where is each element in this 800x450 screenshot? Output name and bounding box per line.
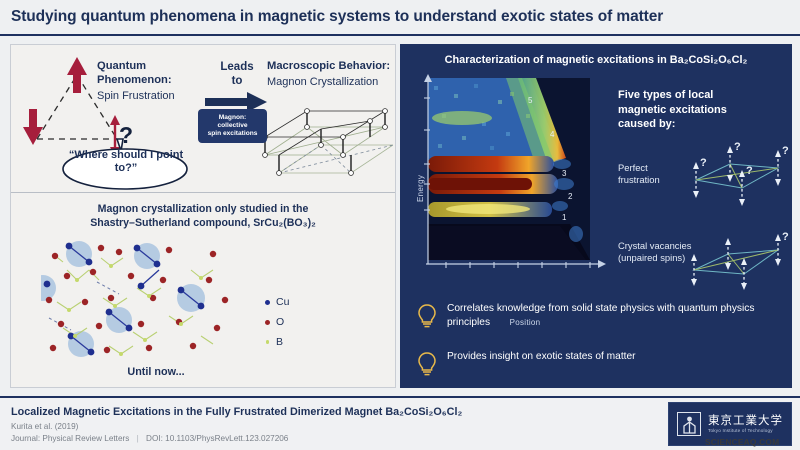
magnon-line2: collective	[217, 122, 247, 130]
crystal-legend: Cu O B	[265, 296, 289, 356]
shastry-caption: Magnon crystallization only studied in t…	[25, 202, 381, 231]
paper-authors: Kurita et al. (2019)	[11, 422, 78, 431]
legend-item-cu: Cu	[265, 296, 289, 308]
lightbulb-icon	[416, 303, 438, 329]
spin-up-arrow	[67, 57, 87, 93]
until-now-text: Until now...	[11, 366, 301, 378]
macroscopic-heading: Macroscopic Behavior:	[267, 59, 393, 74]
heatmap-ylabel: Energy	[416, 175, 425, 202]
magnon-line3: spin excitations	[208, 130, 258, 138]
journal-separator: |	[137, 434, 139, 443]
bullet-item-2: Provides insight on exotic states of mat…	[416, 350, 776, 377]
quantum-phenomenon-sub: Spin Frustration	[97, 89, 201, 103]
crystal-lattice-svg	[41, 236, 241, 364]
bullet-text-2: Provides insight on exotic states of mat…	[447, 350, 636, 364]
perfect-frustration-lattice: ?? ??	[686, 140, 792, 214]
heatmap-marker-2: 2	[568, 192, 572, 201]
legend-dot-cu	[265, 300, 270, 305]
speech-bubble-text: “Where should I point to?”	[67, 149, 185, 175]
macroscopic-behavior-label: Macroscopic Behavior: Magnon Crystalliza…	[267, 59, 393, 89]
heatmap-marker-5: 5	[528, 96, 532, 105]
logo-name-jp: 東京工業大学	[708, 415, 783, 428]
quantum-phenomenon-label: Quantum Phenomenon: Spin Frustration	[97, 59, 201, 103]
magnon-lattice-diagram	[259, 97, 393, 189]
crystal-vacancies-lattice: ?	[686, 230, 792, 302]
phenomenon-panel: ? “Where should I point to?” Quantum Phe…	[11, 45, 395, 193]
magnon-definition-box: Magnon: collective spin excitations	[198, 109, 267, 143]
heatmap-marker-3: 3	[562, 169, 566, 178]
svg-text:?: ?	[700, 157, 707, 169]
watermark-text: SCIENCEAQ.COM	[705, 437, 779, 447]
logo-text-block: 東京工業大学 Tokyo Institute of Technology	[708, 415, 783, 434]
legend-label-b: B	[276, 336, 283, 348]
heatmap-marker-4: 4	[550, 130, 554, 139]
lightbulb-icon	[416, 351, 438, 377]
paper-title: Localized Magnetic Excitations in the Fu…	[11, 406, 462, 418]
bullet-text-1: Correlates knowledge from solid state ph…	[447, 302, 776, 330]
perfect-frustration-label: Perfect frustration	[618, 162, 684, 186]
legend-item-b: B	[265, 336, 289, 348]
leads-to-line1: Leads	[201, 61, 273, 75]
shastry-sutherland-panel: Magnon crystallization only studied in t…	[11, 194, 395, 387]
legend-label-o: O	[276, 316, 284, 328]
svg-text:?: ?	[782, 145, 789, 157]
bullet-item-1: Correlates knowledge from solid state ph…	[416, 302, 776, 330]
legend-label-cu: Cu	[276, 296, 289, 308]
logo-name-en: Tokyo Institute of Technology	[708, 428, 783, 433]
left-panel: ? “Where should I point to?” Quantum Phe…	[10, 44, 396, 388]
shastry-line2: Shastry–Sutherland compound, SrCu₂(BO₃)₂	[25, 216, 381, 230]
legend-dot-o	[265, 320, 270, 325]
heatmap-svg	[410, 74, 610, 304]
right-panel-title: Characterization of magnetic excitations…	[400, 54, 792, 66]
page-title: Studying quantum phenomena in magnetic s…	[0, 8, 663, 26]
shastry-line1: Magnon crystallization only studied in t…	[25, 202, 381, 216]
excitation-heatmap: Energy Position 1 2 3 4 5	[410, 74, 610, 304]
paper-doi: DOI: 10.1103/PhysRevLett.123.027206	[146, 434, 288, 443]
page-header: Studying quantum phenomena in magnetic s…	[0, 0, 800, 36]
svg-text:?: ?	[746, 165, 753, 177]
magnon-line1: Magnon:	[219, 114, 246, 122]
infographic-stage: ? “Where should I point to?” Quantum Phe…	[0, 38, 800, 394]
legend-dot-b	[266, 340, 270, 344]
paper-journal-line: Journal: Physical Review Letters | DOI: …	[11, 434, 288, 443]
svg-text:?: ?	[782, 231, 789, 243]
crystal-structure-diagram	[41, 236, 241, 364]
quantum-phenomenon-heading: Quantum Phenomenon:	[97, 59, 201, 88]
right-panel: Characterization of magnetic excitations…	[400, 44, 792, 388]
titech-logo-mark	[677, 412, 701, 436]
legend-item-o: O	[265, 316, 289, 328]
journal-name: Journal: Physical Review Letters	[11, 434, 129, 443]
heatmap-marker-1: 1	[562, 213, 566, 222]
macroscopic-sub: Magnon Crystallization	[267, 75, 393, 89]
leads-to-line2: to	[201, 75, 273, 89]
svg-text:?: ?	[734, 141, 741, 153]
crystal-vacancies-label: Crystal vacancies (unpaired spins)	[618, 240, 696, 264]
five-types-heading: Five types of local magnetic excitations…	[618, 88, 738, 132]
